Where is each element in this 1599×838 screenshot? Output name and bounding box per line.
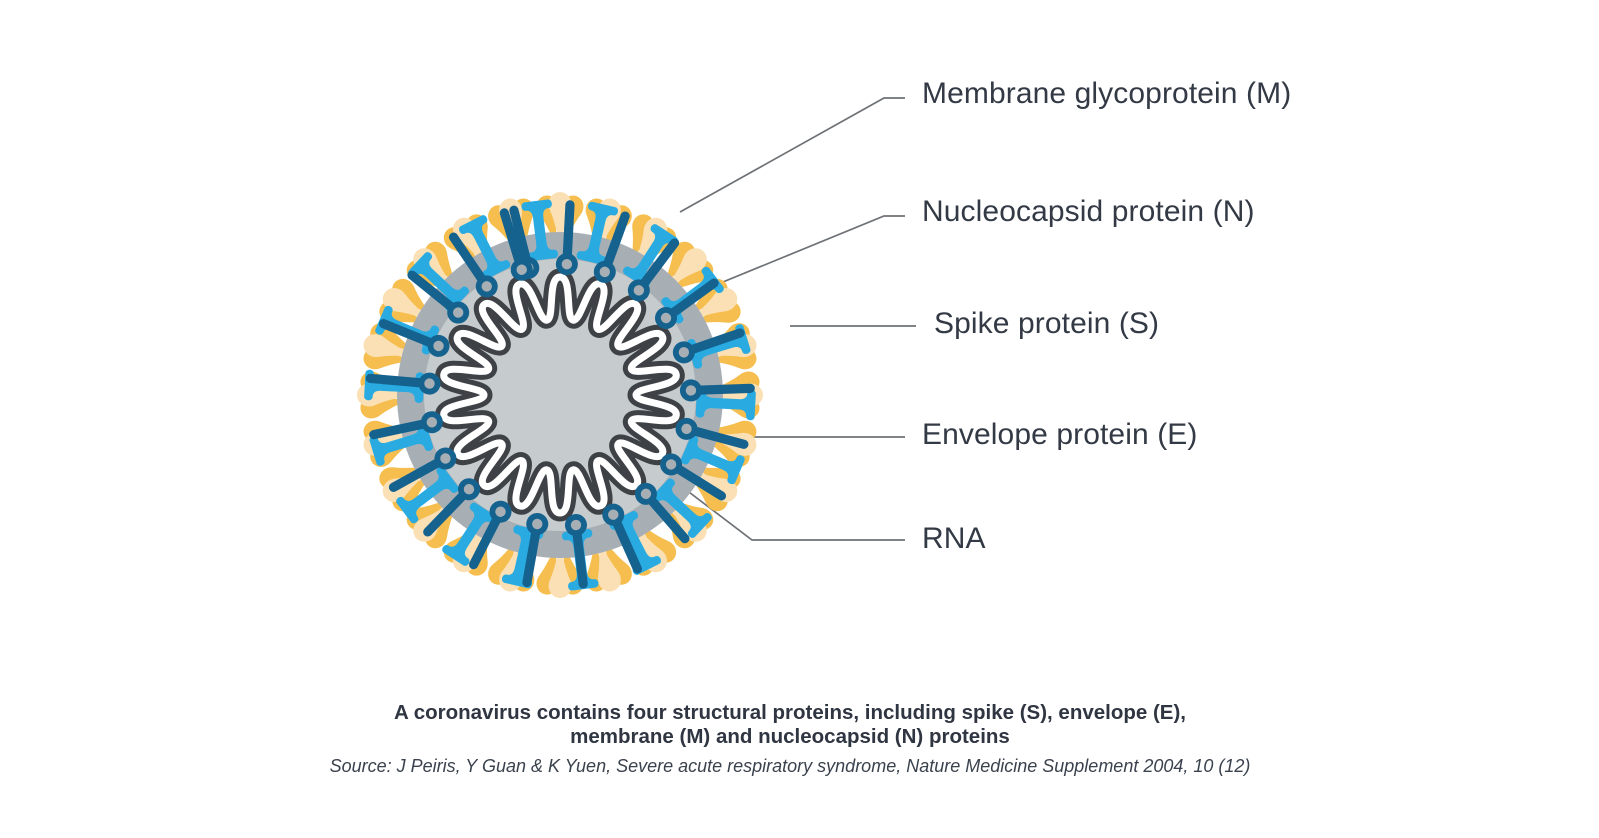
label-envelope: Envelope protein (E)	[922, 418, 1198, 451]
virus-particle	[357, 192, 763, 598]
coronavirus-diagram: Membrane glycoprotein (M)Nucleocapsid pr…	[0, 0, 1599, 838]
caption-line-2: membrane (M) and nucleocapsid (N) protei…	[570, 725, 1010, 748]
label-rna: RNA	[922, 522, 986, 555]
label-spike: Spike protein (S)	[934, 307, 1159, 340]
caption-source: Source: J Peiris, Y Guan & K Yuen, Sever…	[330, 756, 1251, 776]
label-membrane: Membrane glycoprotein (M)	[922, 77, 1291, 110]
label-nucleocapsid: Nucleocapsid protein (N)	[922, 195, 1255, 228]
caption-line-1: A coronavirus contains four structural p…	[394, 701, 1186, 724]
